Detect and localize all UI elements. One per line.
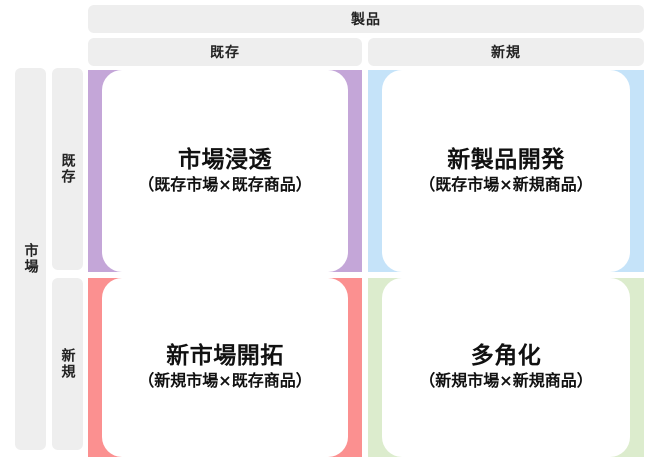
- market-row-header-existing: 既存: [52, 68, 83, 270]
- quadrant-subtitle: （新規市場×新規商品）: [419, 371, 592, 392]
- quadrant-market-development: 新市場開拓 （新規市場×既存商品）: [88, 278, 362, 457]
- quadrant-subtitle: （既存市場×既存商品）: [138, 175, 311, 196]
- quadrant-title: 新製品開発: [447, 147, 565, 174]
- quadrant-title: 新市場開拓: [166, 343, 284, 370]
- quadrant-market-penetration: 市場浸透 （既存市場×既存商品）: [88, 70, 362, 272]
- quadrant-card: 市場浸透 （既存市場×既存商品）: [102, 70, 348, 272]
- quadrant-subtitle: （新規市場×既存商品）: [138, 371, 311, 392]
- quadrant-card: 新市場開拓 （新規市場×既存商品）: [102, 278, 348, 457]
- quadrant-title: 多角化: [471, 343, 542, 370]
- quadrant-subtitle: （既存市場×新規商品）: [419, 175, 592, 196]
- quadrant-product-development: 新製品開発 （既存市場×新規商品）: [368, 70, 644, 272]
- quadrant-card: 新製品開発 （既存市場×新規商品）: [382, 70, 630, 272]
- quadrant-title: 市場浸透: [178, 147, 272, 174]
- quadrant-card: 多角化 （新規市場×新規商品）: [382, 278, 630, 457]
- product-column-header-new: 新規: [368, 38, 644, 66]
- market-axis-title: 市場: [15, 68, 46, 450]
- product-axis-title: 製品: [88, 5, 644, 33]
- market-row-header-new: 新規: [52, 278, 83, 450]
- product-column-header-existing: 既存: [88, 38, 362, 66]
- ansoff-matrix-figure: 製品 既存 新規 市場 既存 新規 市場浸透 （既存市場×既存商品） 新製品開発…: [0, 0, 660, 457]
- quadrant-diversification: 多角化 （新規市場×新規商品）: [368, 278, 644, 457]
